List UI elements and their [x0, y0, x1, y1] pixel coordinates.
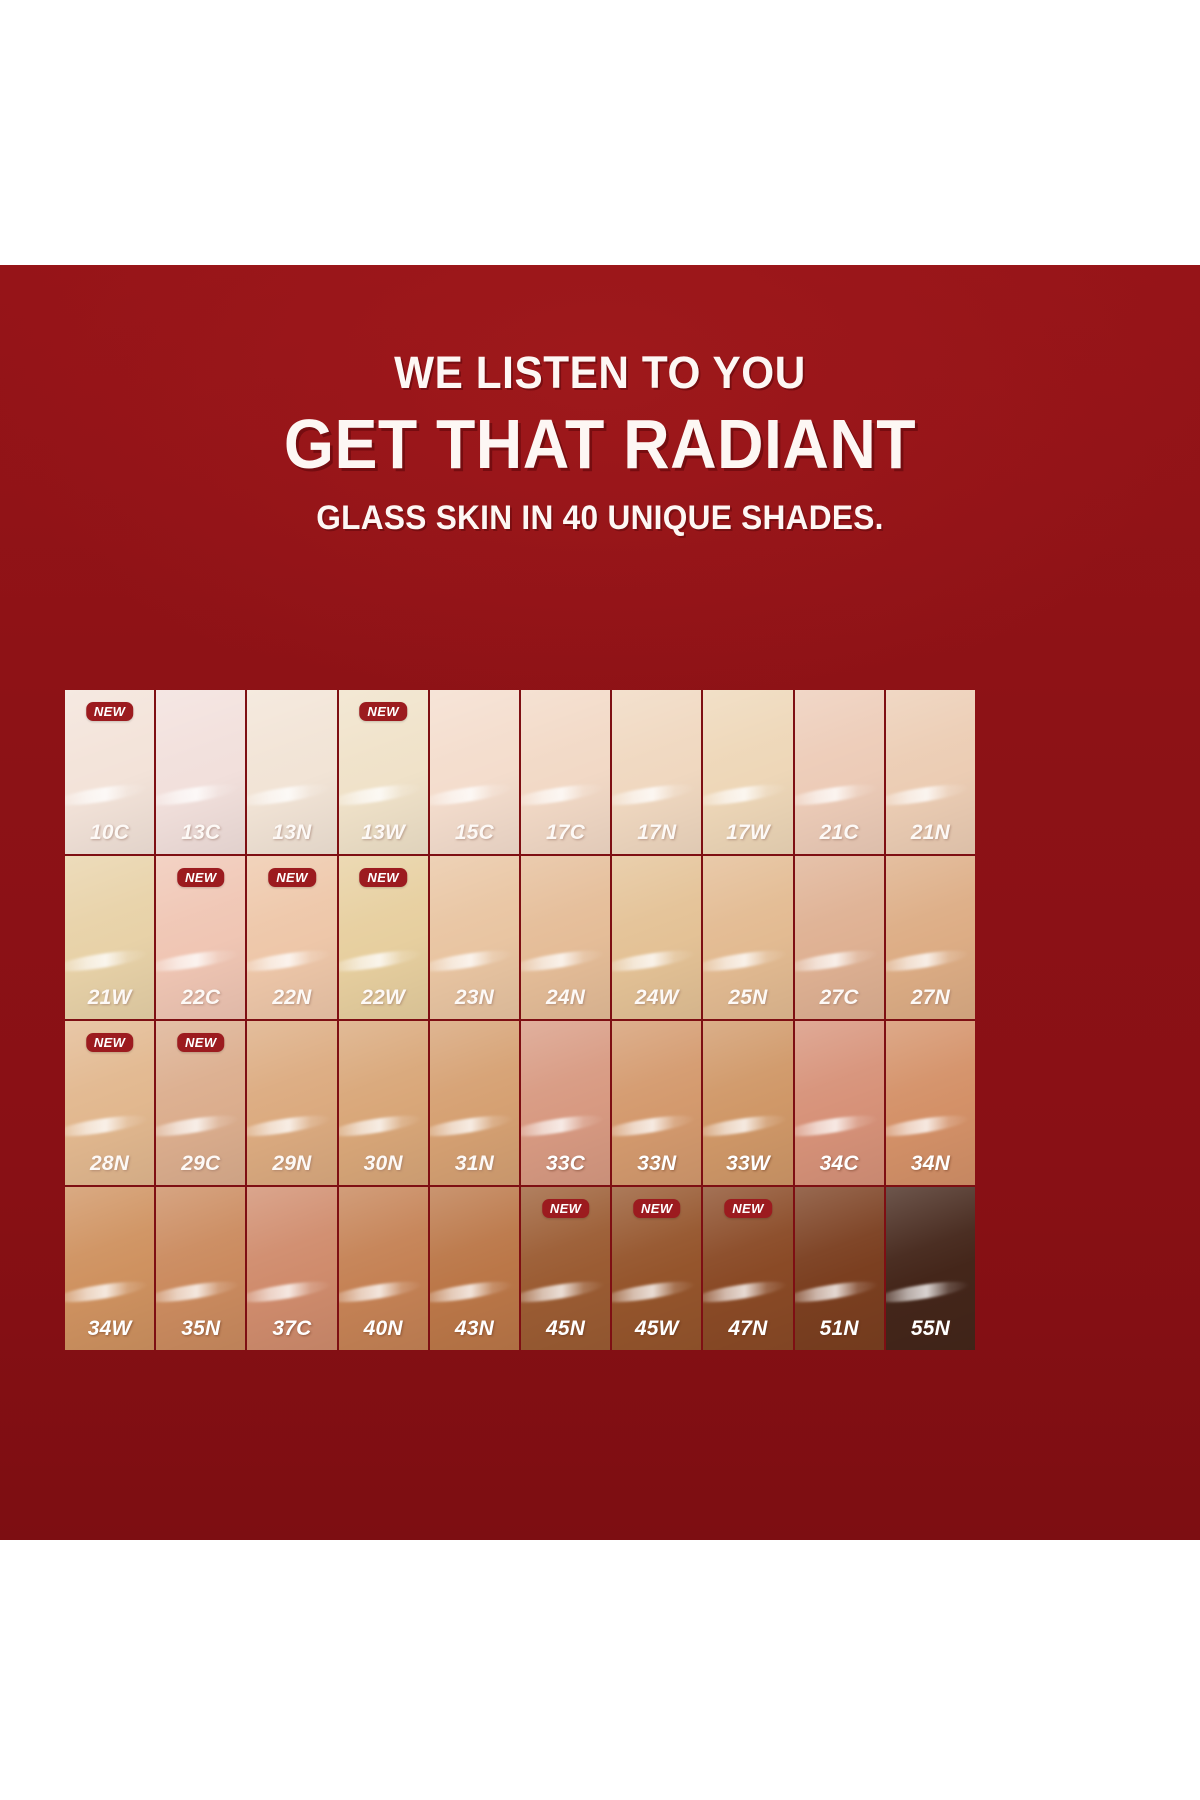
swatch-gloss-streak [521, 1112, 604, 1140]
swatch-gloss-streak [886, 781, 969, 809]
shade-label: 28N [65, 1152, 154, 1176]
shade-swatch[interactable]: 34W [65, 1187, 154, 1351]
shade-swatch[interactable]: NEW22W [339, 856, 428, 1020]
shade-label: 17N [612, 821, 701, 845]
shade-swatch[interactable]: NEW45W [612, 1187, 701, 1351]
shade-label: 17C [521, 821, 610, 845]
shade-swatch[interactable]: NEW28N [65, 1021, 154, 1185]
shade-label: 43N [430, 1317, 519, 1341]
shade-swatch[interactable]: 40N [339, 1187, 428, 1351]
shade-label: 10C [65, 821, 154, 845]
swatch-gloss-streak [339, 1112, 422, 1140]
swatch-gloss-streak [795, 946, 878, 974]
swatch-gloss-streak [65, 1277, 148, 1305]
new-badge: NEW [359, 702, 407, 721]
swatch-gloss-streak [521, 946, 604, 974]
swatch-gloss-streak [521, 1277, 604, 1305]
shade-swatch[interactable]: 34N [886, 1021, 975, 1185]
swatch-gloss-streak [886, 1277, 969, 1305]
swatch-gloss-streak [65, 1112, 148, 1140]
shade-label: 22N [247, 986, 336, 1010]
swatch-gloss-streak [430, 1112, 513, 1140]
swatch-gloss-streak [247, 781, 330, 809]
page-root: WE LISTEN TO YOU GET THAT RADIANT GLASS … [0, 0, 1200, 1800]
swatch-gloss-streak [247, 1112, 330, 1140]
shade-label: 35N [156, 1317, 245, 1341]
shade-label: 27N [886, 986, 975, 1010]
swatch-gloss-streak [247, 946, 330, 974]
shade-label: 23N [430, 986, 519, 1010]
shade-swatch[interactable]: NEW22N [247, 856, 336, 1020]
swatch-gloss-streak [339, 946, 422, 974]
swatch-gloss-streak [612, 1277, 695, 1305]
shade-label: 34W [65, 1317, 154, 1341]
shade-swatch[interactable]: 55N [886, 1187, 975, 1351]
swatch-gloss-streak [795, 1277, 878, 1305]
shade-label: 13C [156, 821, 245, 845]
shade-label: 15C [430, 821, 519, 845]
shade-label: 21N [886, 821, 975, 845]
new-badge: NEW [542, 1199, 590, 1218]
swatch-gloss-streak [65, 781, 148, 809]
shade-swatch[interactable]: 21N [886, 690, 975, 854]
new-badge: NEW [724, 1199, 772, 1218]
shade-grid: NEW10C13C13NNEW13W15C17C17N17W21C21N21WN… [65, 690, 975, 1350]
shade-swatch[interactable]: 17N [612, 690, 701, 854]
promo-panel: WE LISTEN TO YOU GET THAT RADIANT GLASS … [0, 265, 1200, 1540]
swatch-gloss-streak [430, 1277, 513, 1305]
shade-label: 45N [521, 1317, 610, 1341]
swatch-gloss-streak [795, 781, 878, 809]
swatch-gloss-streak [886, 946, 969, 974]
shade-swatch[interactable]: NEW45N [521, 1187, 610, 1351]
shade-label: 40N [339, 1317, 428, 1341]
shade-swatch[interactable]: 25N [703, 856, 792, 1020]
shade-swatch[interactable]: 33W [703, 1021, 792, 1185]
swatch-gloss-streak [156, 1277, 239, 1305]
shade-swatch[interactable]: 35N [156, 1187, 245, 1351]
heading-line-1: WE LISTEN TO YOU [36, 350, 1164, 395]
swatch-gloss-streak [65, 946, 148, 974]
swatch-gloss-streak [703, 1112, 786, 1140]
shade-label: 34C [795, 1152, 884, 1176]
new-badge: NEW [633, 1199, 681, 1218]
shade-label: 13N [247, 821, 336, 845]
swatch-gloss-streak [703, 946, 786, 974]
shade-swatch[interactable]: 24N [521, 856, 610, 1020]
new-badge: NEW [86, 702, 134, 721]
shade-swatch[interactable]: 30N [339, 1021, 428, 1185]
shade-swatch[interactable]: 23N [430, 856, 519, 1020]
heading-line-3: GLASS SKIN IN 40 UNIQUE SHADES. [42, 501, 1158, 535]
shade-label: 21W [65, 986, 154, 1010]
shade-swatch[interactable]: 15C [430, 690, 519, 854]
shade-swatch[interactable]: 43N [430, 1187, 519, 1351]
shade-label: 33W [703, 1152, 792, 1176]
swatch-gloss-streak [612, 946, 695, 974]
swatch-gloss-streak [795, 1112, 878, 1140]
shade-swatch[interactable]: NEW29C [156, 1021, 245, 1185]
shade-label: 25N [703, 986, 792, 1010]
swatch-gloss-streak [247, 1277, 330, 1305]
shade-swatch[interactable]: 33C [521, 1021, 610, 1185]
shade-swatch[interactable]: 24W [612, 856, 701, 1020]
new-badge: NEW [359, 868, 407, 887]
new-badge: NEW [177, 1033, 225, 1052]
shade-label: 21C [795, 821, 884, 845]
new-badge: NEW [86, 1033, 134, 1052]
shade-label: 24N [521, 986, 610, 1010]
swatch-gloss-streak [156, 1112, 239, 1140]
shade-swatch[interactable]: 27N [886, 856, 975, 1020]
shade-label: 55N [886, 1317, 975, 1341]
shade-swatch[interactable]: NEW47N [703, 1187, 792, 1351]
swatch-gloss-streak [156, 946, 239, 974]
heading-block: WE LISTEN TO YOU GET THAT RADIANT GLASS … [0, 350, 1200, 535]
shade-label: 37C [247, 1317, 336, 1341]
swatch-gloss-streak [612, 781, 695, 809]
shade-swatch[interactable]: 34C [795, 1021, 884, 1185]
swatch-gloss-streak [430, 946, 513, 974]
shade-label: 22C [156, 986, 245, 1010]
shade-swatch[interactable]: 21C [795, 690, 884, 854]
shade-label: 34N [886, 1152, 975, 1176]
shade-swatch[interactable]: 37C [247, 1187, 336, 1351]
shade-label: 45W [612, 1317, 701, 1341]
shade-swatch[interactable]: 17C [521, 690, 610, 854]
swatch-gloss-streak [430, 781, 513, 809]
heading-line-2: GET THAT RADIANT [48, 409, 1152, 479]
shade-swatch[interactable]: NEW13W [339, 690, 428, 854]
shade-swatch[interactable]: 13C [156, 690, 245, 854]
swatch-gloss-streak [886, 1112, 969, 1140]
shade-label: 51N [795, 1317, 884, 1341]
swatch-gloss-streak [339, 781, 422, 809]
shade-label: 13W [339, 821, 428, 845]
shade-label: 31N [430, 1152, 519, 1176]
shade-swatch[interactable]: 51N [795, 1187, 884, 1351]
shade-label: 27C [795, 986, 884, 1010]
shade-label: 17W [703, 821, 792, 845]
shade-label: 29C [156, 1152, 245, 1176]
swatch-gloss-streak [612, 1112, 695, 1140]
swatch-gloss-streak [521, 781, 604, 809]
shade-label: 47N [703, 1317, 792, 1341]
shade-swatch[interactable]: 17W [703, 690, 792, 854]
shade-label: 33C [521, 1152, 610, 1176]
shade-swatch[interactable]: 21W [65, 856, 154, 1020]
shade-label: 33N [612, 1152, 701, 1176]
shade-swatch[interactable]: 33N [612, 1021, 701, 1185]
shade-swatch[interactable]: 29N [247, 1021, 336, 1185]
shade-label: 29N [247, 1152, 336, 1176]
shade-label: 30N [339, 1152, 428, 1176]
swatch-gloss-streak [339, 1277, 422, 1305]
shade-swatch[interactable]: 31N [430, 1021, 519, 1185]
swatch-gloss-streak [703, 1277, 786, 1305]
new-badge: NEW [268, 868, 316, 887]
shade-label: 22W [339, 986, 428, 1010]
shade-swatch[interactable]: NEW22C [156, 856, 245, 1020]
swatch-gloss-streak [156, 781, 239, 809]
new-badge: NEW [177, 868, 225, 887]
shade-label: 24W [612, 986, 701, 1010]
shade-swatch[interactable]: 27C [795, 856, 884, 1020]
shade-swatch[interactable]: 13N [247, 690, 336, 854]
swatch-gloss-streak [703, 781, 786, 809]
shade-swatch[interactable]: NEW10C [65, 690, 154, 854]
